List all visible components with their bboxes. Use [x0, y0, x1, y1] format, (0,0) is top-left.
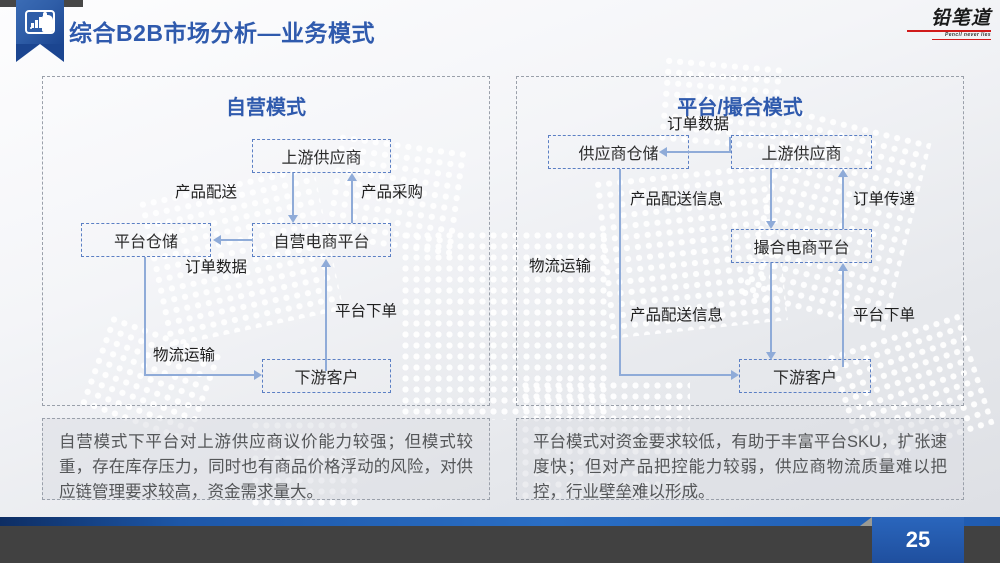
node-platform-warehouse[interactable]: 平台仓储 [81, 223, 211, 257]
connector-product-delivery-arrow [288, 215, 298, 223]
connector-order-transfer-arrow [838, 169, 848, 177]
connector-logistics-right-arrow [731, 370, 739, 380]
connector-platform-order-right-arrow [838, 263, 848, 271]
connector-order-data-arrow [213, 235, 221, 245]
chart-bar-2 [35, 20, 38, 28]
connector-logistics-vertical [144, 257, 146, 376]
page-title: 综合B2B市场分析—业务模式 [69, 14, 375, 48]
page-tab-notch [860, 517, 872, 526]
connector-product-procurement-arrow [347, 173, 357, 181]
label-logistics-transport-right: 物流运输 [529, 254, 591, 276]
connector-logistics-arrow [254, 370, 262, 380]
connector-order-transfer-line [842, 177, 844, 229]
connector-product-procurement-line [351, 181, 353, 223]
label-order-data-right: 订单数据 [667, 112, 729, 134]
slide-canvas: 综合B2B市场分析—业务模式 铅笔道 Pencil never lies 自营模… [0, 0, 1000, 563]
diagram-panel-self-operated: 自营模式 上游供应商 平台仓储 自营电商平台 下游客户 产品配送 产品采购 订单… [42, 76, 490, 406]
connector-platform-order-right-line [842, 271, 844, 367]
brand-tagline: Pencil never lies [907, 32, 991, 38]
node-matching-ecommerce-platform[interactable]: 撮合电商平台 [731, 229, 872, 263]
connector-platform-order-line [325, 267, 327, 371]
brand-rule-2 [932, 39, 991, 40]
connector-delivery-info-top-arrow [766, 221, 776, 229]
pointing-hand-icon [42, 15, 53, 32]
label-logistics-transport-left: 物流运输 [153, 343, 215, 365]
panel-title-platform-matching: 平台/撮合模式 [517, 91, 963, 120]
node-self-ecommerce-platform[interactable]: 自营电商平台 [252, 223, 391, 257]
diagram-panel-platform-matching: 平台/撮合模式 供应商仓储 上游供应商 撮合电商平台 下游客户 订单数据 产品配… [516, 76, 964, 406]
node-downstream-customer-right[interactable]: 下游客户 [739, 359, 871, 393]
connector-delivery-info-bottom-arrow [766, 352, 776, 360]
label-order-data-left: 订单数据 [185, 255, 247, 277]
note-panel-self-operated: 自营模式下平台对上游供应商议价能力较强；但模式较重，存在库存压力，同时也有商品价… [42, 418, 490, 500]
brand-name-cn: 铅笔道 [907, 9, 991, 29]
connector-logistics-right-horizontal [619, 374, 731, 376]
connector-order-data-right-arrow [659, 147, 667, 157]
label-product-delivery-info-top: 产品配送信息 [630, 187, 723, 209]
connector-delivery-info-top-line [770, 169, 772, 221]
footer-bar [0, 526, 1000, 563]
connector-product-delivery-line [292, 173, 294, 215]
node-upstream-supplier-left[interactable]: 上游供应商 [252, 139, 391, 173]
note-text-self-operated: 自营模式下平台对上游供应商议价能力较强；但模式较重，存在库存压力，同时也有商品价… [59, 430, 473, 505]
note-text-platform-matching: 平台模式对资金要求较低，有助于丰富平台SKU，扩张速度快；但对产品把控能力较弱，… [533, 430, 947, 505]
connector-logistics-horizontal [144, 374, 254, 376]
note-panel-platform-matching: 平台模式对资金要求较低，有助于丰富平台SKU，扩张速度快；但对产品把控能力较弱，… [516, 418, 964, 500]
node-upstream-supplier-right[interactable]: 上游供应商 [731, 135, 872, 169]
label-product-procurement: 产品采购 [361, 180, 423, 202]
ribbon-tail [16, 44, 64, 62]
connector-delivery-info-bottom-line [770, 263, 772, 358]
label-product-delivery: 产品配送 [175, 180, 237, 202]
panel-title-self-operated: 自营模式 [43, 91, 489, 120]
chart-bar-1 [31, 23, 34, 28]
brand-logo: 铅笔道 Pencil never lies [907, 9, 991, 41]
connector-order-data-right-horizontal [667, 151, 731, 153]
connector-platform-order-arrow [321, 259, 331, 267]
connector-order-data-right-vertical [729, 137, 731, 152]
page-number-badge: 25 [872, 517, 964, 563]
label-product-delivery-info-bottom: 产品配送信息 [630, 303, 723, 325]
ribbon-logo [16, 0, 64, 62]
label-order-transfer: 订单传递 [853, 187, 915, 209]
footer-accent-bar [0, 517, 1000, 526]
label-platform-order-left: 平台下单 [335, 299, 397, 321]
connector-logistics-right-vertical [619, 169, 621, 376]
tablet-chart-hand-icon [25, 10, 55, 34]
connector-order-data-line [221, 239, 253, 241]
label-platform-order-right: 平台下单 [853, 303, 915, 325]
